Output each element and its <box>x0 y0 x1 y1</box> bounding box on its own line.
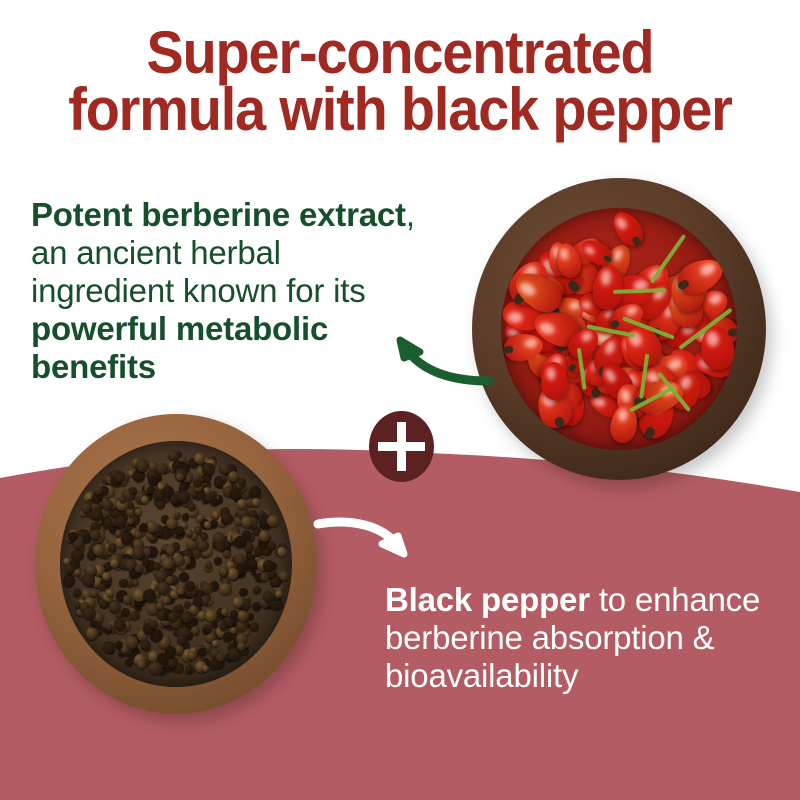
berberine-bold-tail: powerful metabolic benefits <box>31 310 328 385</box>
headline-line-1: Super-concentrated <box>28 24 772 81</box>
rosehips-bowl-rim <box>472 178 766 480</box>
headline-line-2: formula with black pepper <box>28 81 772 138</box>
infographic-canvas: Super-concentrated formula with black pe… <box>0 0 800 800</box>
pepper-bold-lead: Black pepper <box>385 581 590 618</box>
pepper-bowl-image <box>35 414 317 714</box>
headline: Super-concentrated formula with black pe… <box>28 24 772 138</box>
plus-badge <box>369 411 434 482</box>
berberine-bold-lead: Potent berberine extract <box>31 196 406 233</box>
rosehips-bowl-image <box>472 178 766 480</box>
pepper-bowl-rim <box>35 414 317 714</box>
berberine-callout-text: Potent berberine extract, an ancient her… <box>31 196 431 386</box>
plus-icon-vertical <box>397 422 406 471</box>
black-pepper-callout-text: Black pepper to enhance berberine absorp… <box>385 581 775 695</box>
